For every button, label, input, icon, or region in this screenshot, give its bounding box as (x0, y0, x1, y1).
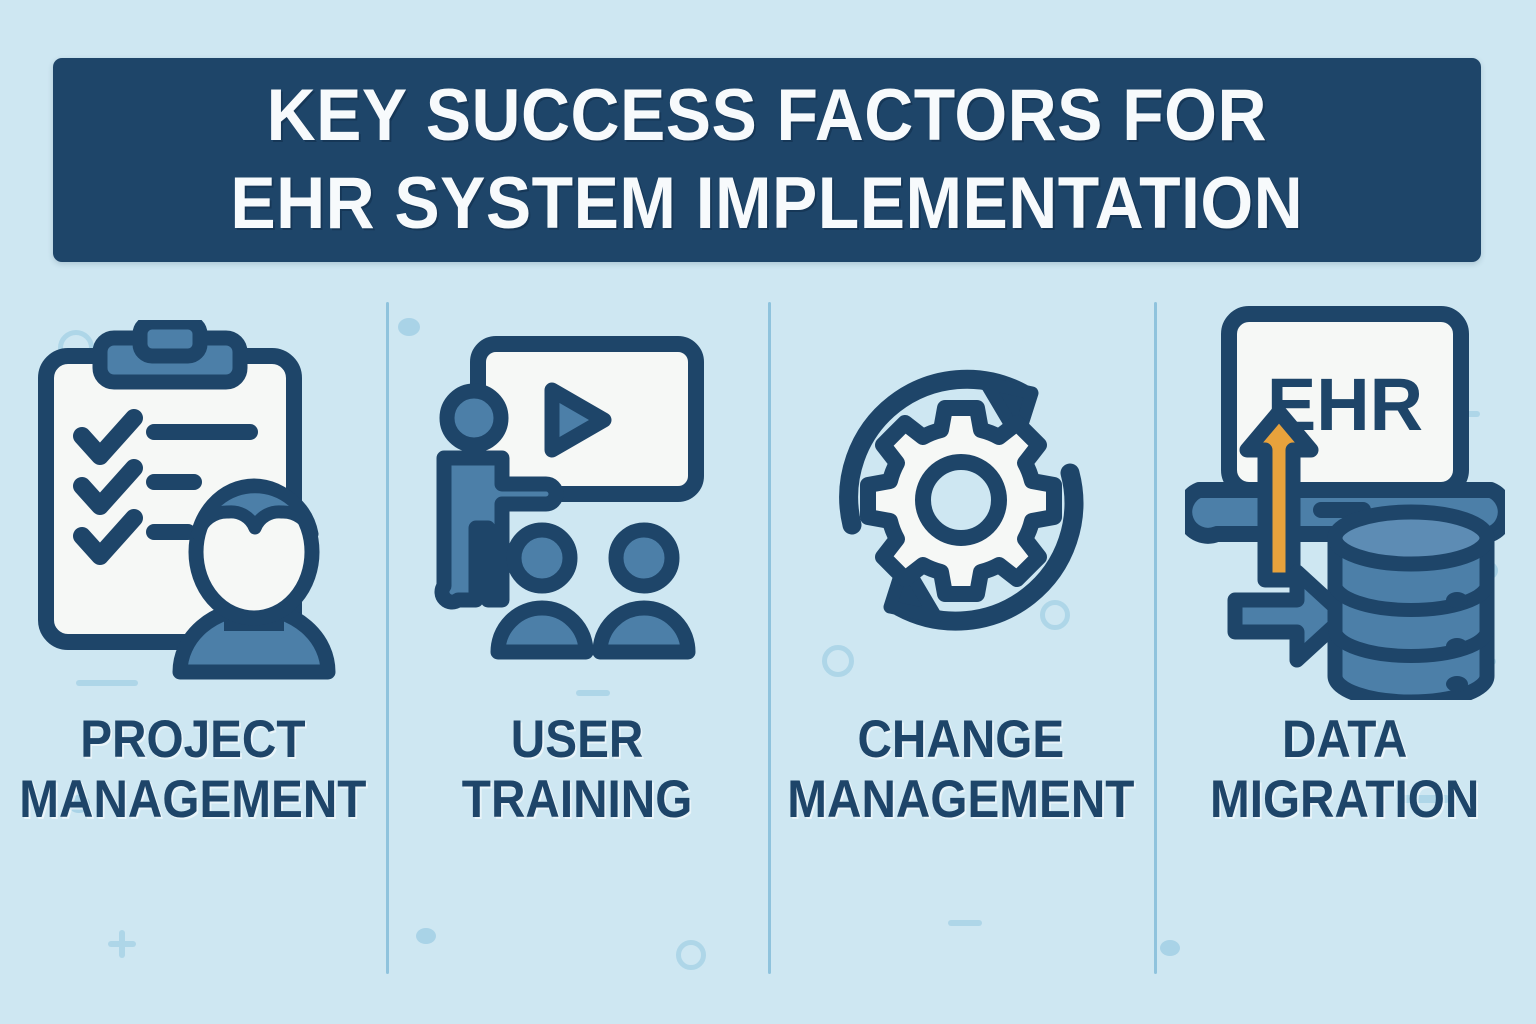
label-project-management: PROJECT MANAGEMENT (19, 710, 366, 830)
icon-wrap-data-migration: EHR (1185, 290, 1505, 710)
column-project-management[interactable]: PROJECT MANAGEMENT (0, 290, 386, 990)
label-user-training: USER TRAINING (462, 710, 693, 830)
clipboard-checklist-person-icon (28, 320, 358, 680)
column-change-management[interactable]: CHANGE MANAGEMENT (768, 290, 1154, 990)
column-divider-3 (1154, 302, 1157, 974)
label-line-2: MIGRATION (1210, 770, 1479, 830)
icon-wrap-user-training (432, 290, 722, 710)
icon-wrap-change-management (826, 290, 1096, 710)
label-data-migration: DATA MIGRATION (1210, 710, 1479, 830)
label-line-1: PROJECT (19, 710, 366, 770)
factor-columns: PROJECT MANAGEMENT (0, 290, 1536, 990)
title-line-1: KEY SUCCESS FACTORS FOR (267, 72, 1267, 160)
label-line-2: MANAGEMENT (787, 770, 1134, 830)
title-line-2: EHR SYSTEM IMPLEMENTATION (231, 160, 1304, 248)
presenter-whiteboard-audience-icon (432, 330, 722, 670)
column-data-migration[interactable]: EHR (1154, 290, 1536, 990)
icon-wrap-project-management (28, 290, 358, 710)
laptop-database-arrows-icon: EHR (1185, 300, 1505, 700)
infographic-canvas: KEY SUCCESS FACTORS FOR EHR SYSTEM IMPLE… (0, 0, 1536, 1024)
column-divider-1 (386, 302, 389, 974)
label-line-1: DATA (1210, 710, 1479, 770)
label-line-2: TRAINING (462, 770, 693, 830)
column-divider-2 (768, 302, 771, 974)
label-change-management: CHANGE MANAGEMENT (787, 710, 1134, 830)
label-line-1: USER (462, 710, 693, 770)
title-banner: KEY SUCCESS FACTORS FOR EHR SYSTEM IMPLE… (53, 58, 1481, 262)
label-line-2: MANAGEMENT (19, 770, 366, 830)
column-user-training[interactable]: USER TRAINING (386, 290, 768, 990)
gear-refresh-arrows-icon (826, 355, 1096, 645)
label-line-1: CHANGE (787, 710, 1134, 770)
